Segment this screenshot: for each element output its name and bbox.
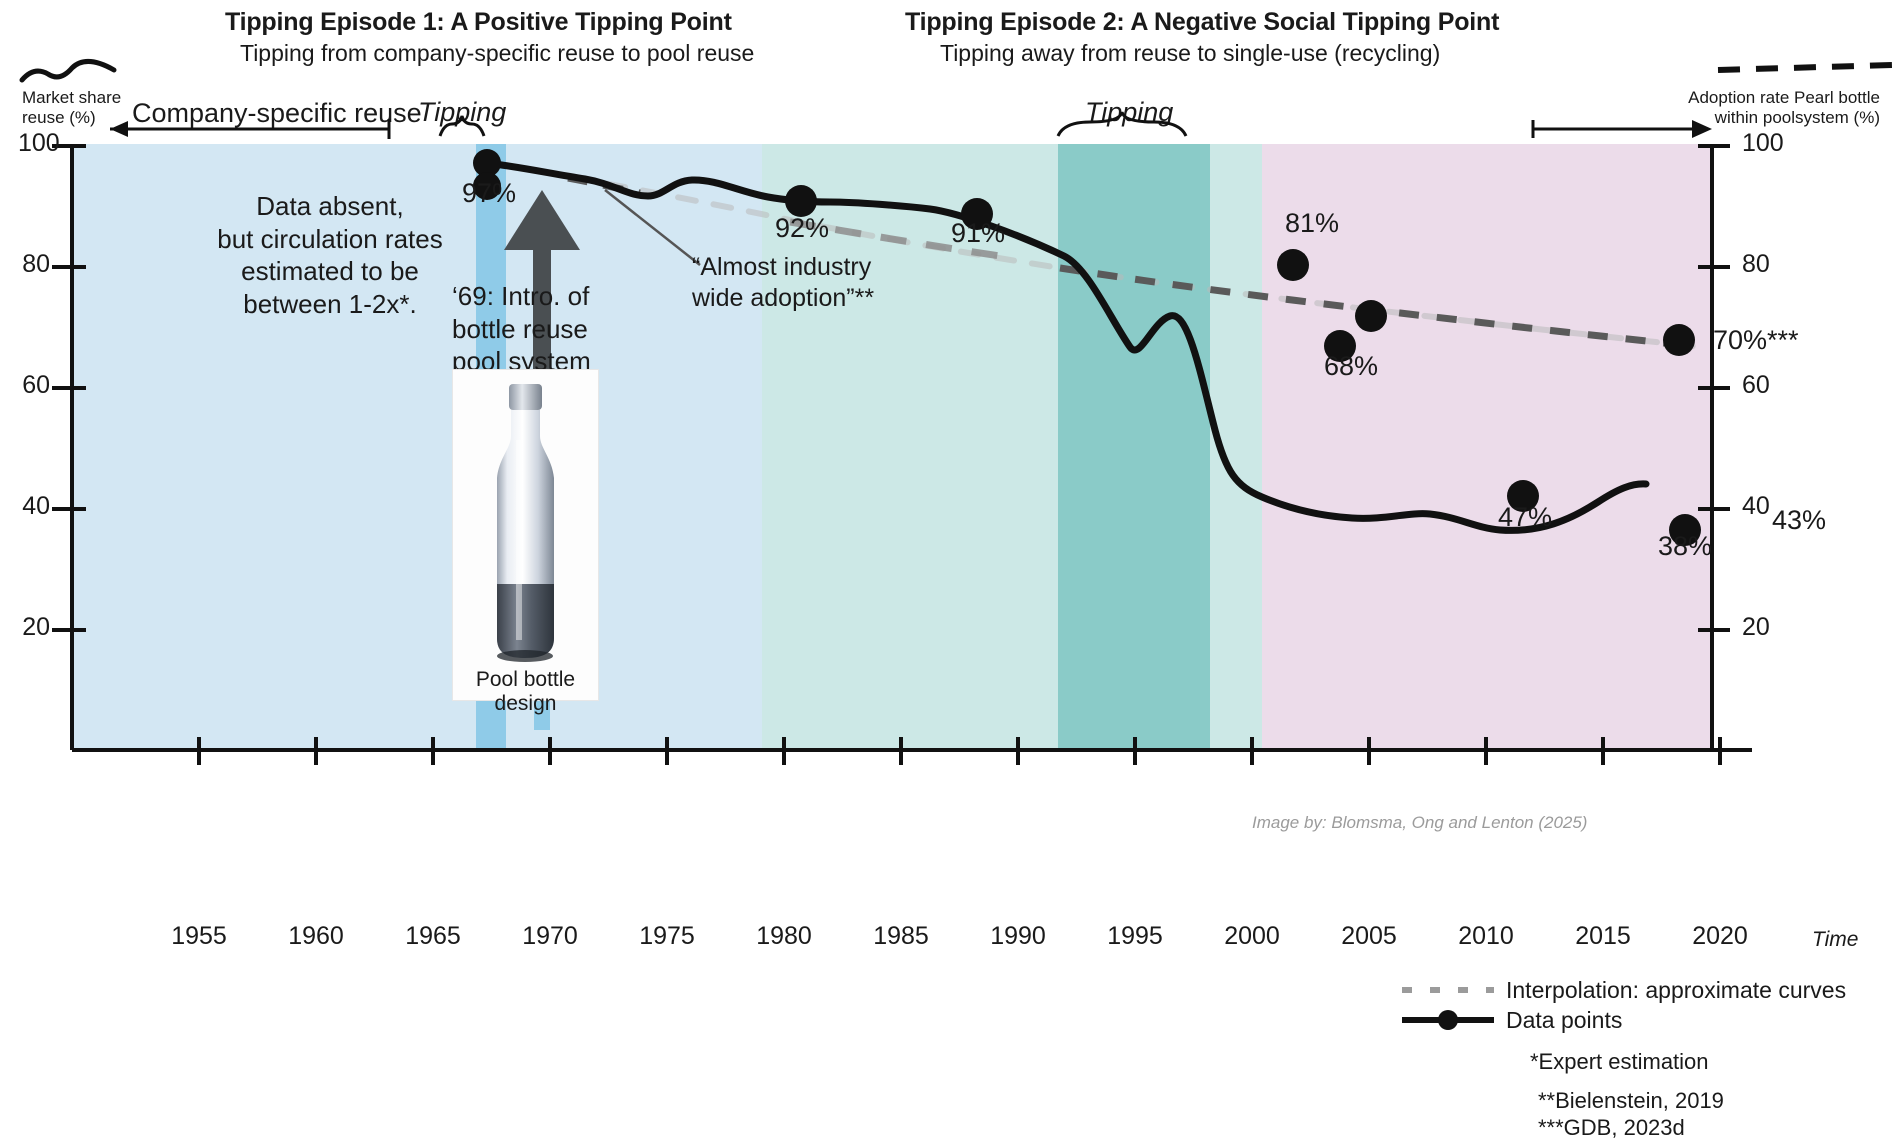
- footnote-bielenstein: **Bielenstein, 2019: [1538, 1088, 1724, 1114]
- legend-swatch-data-points: [1400, 1009, 1496, 1031]
- footnote-gdb: ***GDB, 2023d: [1538, 1115, 1685, 1141]
- x-tick-label-1985: 1985: [851, 922, 951, 951]
- image-credit: Image by: Blomsma, Ong and Lenton (2025): [1252, 813, 1587, 833]
- legend-label-data-points: Data points: [1506, 1007, 1622, 1034]
- y-tick-label-60: 60: [18, 371, 50, 400]
- x-tick-label-2010: 2010: [1436, 922, 1536, 951]
- x-tick-label-1970: 1970: [500, 922, 600, 951]
- y2-tick-label-40: 40: [1742, 492, 1770, 521]
- x-tick-label-1995: 1995: [1085, 922, 1185, 951]
- y2-tick-label-100: 100: [1742, 129, 1784, 158]
- data-point-81: [1277, 249, 1309, 281]
- x-tick-label-1975: 1975: [617, 922, 717, 951]
- data-label-81: 81%: [1285, 208, 1339, 239]
- y-tick-label-20: 20: [18, 613, 50, 642]
- x-tick-label-2020: 2020: [1670, 922, 1770, 951]
- brace-tipping-1: [440, 116, 484, 136]
- data-label-97: 97%: [462, 178, 516, 209]
- legend-label-interpolation: Interpolation: approximate curves: [1506, 977, 1846, 1004]
- data-label-47: 47%: [1498, 502, 1552, 533]
- squiggle-curve-icon: [22, 61, 114, 80]
- legend-swatch-dashed: [1400, 983, 1496, 997]
- x-tick-label-1990: 1990: [968, 922, 1068, 951]
- brace-tipping-2: [1058, 112, 1186, 136]
- y-tick-label-100: 100: [18, 129, 50, 158]
- y2-tick-label-20: 20: [1742, 613, 1770, 642]
- x-tick-label-1960: 1960: [266, 922, 366, 951]
- data-point-73: [1355, 300, 1387, 332]
- annotation-industry-wide-adoption: “Almost industry wide adoption”**: [692, 252, 922, 315]
- data-label-38: 38%: [1658, 531, 1712, 562]
- pool-bottle-image: [453, 370, 598, 670]
- arrow-head-right: [1692, 120, 1712, 138]
- data-label-43: 43%: [1772, 505, 1826, 536]
- arrow-head-left: [110, 121, 128, 137]
- x-tick-label-1955: 1955: [149, 922, 249, 951]
- region-tipping-2: [1058, 144, 1210, 750]
- x-tick-label-2000: 2000: [1202, 922, 1302, 951]
- dotted-curve-icon: [1718, 65, 1892, 70]
- legend-item-interpolation: Interpolation: approximate curves: [1400, 975, 1846, 1005]
- footnote-expert-estimation: *Expert estimation: [1530, 1049, 1709, 1075]
- annotation-intro-pool-system: ‘69: Intro. of bottle reuse pool system: [452, 280, 632, 378]
- x-tick-label-1980: 1980: [734, 922, 834, 951]
- legend-item-data-points: Data points: [1400, 1005, 1846, 1035]
- annotation-arrows: [110, 112, 1712, 139]
- y-tick-label-40: 40: [18, 492, 50, 521]
- pool-bottle-caption: Pool bottle design: [453, 668, 598, 716]
- data-point-70-adoption: [1663, 324, 1695, 356]
- pool-bottle-card: Pool bottle design: [452, 369, 599, 701]
- data-label-91: 91%: [951, 218, 1005, 249]
- data-label-92: 92%: [775, 213, 829, 244]
- x-tick-label-2005: 2005: [1319, 922, 1419, 951]
- y2-tick-label-60: 60: [1742, 371, 1770, 400]
- annotation-data-absent: Data absent, but circulation rates estim…: [160, 190, 500, 320]
- x-axis-title: Time: [1812, 928, 1858, 952]
- data-label-70-adoption: 70%***: [1713, 325, 1799, 356]
- x-tick-label-2015: 2015: [1553, 922, 1653, 951]
- x-tick-label-1965: 1965: [383, 922, 483, 951]
- legend: Interpolation: approximate curves Data p…: [1400, 975, 1846, 1035]
- y2-tick-label-80: 80: [1742, 250, 1770, 279]
- data-label-68: 68%: [1324, 351, 1378, 382]
- y-tick-label-80: 80: [18, 250, 50, 279]
